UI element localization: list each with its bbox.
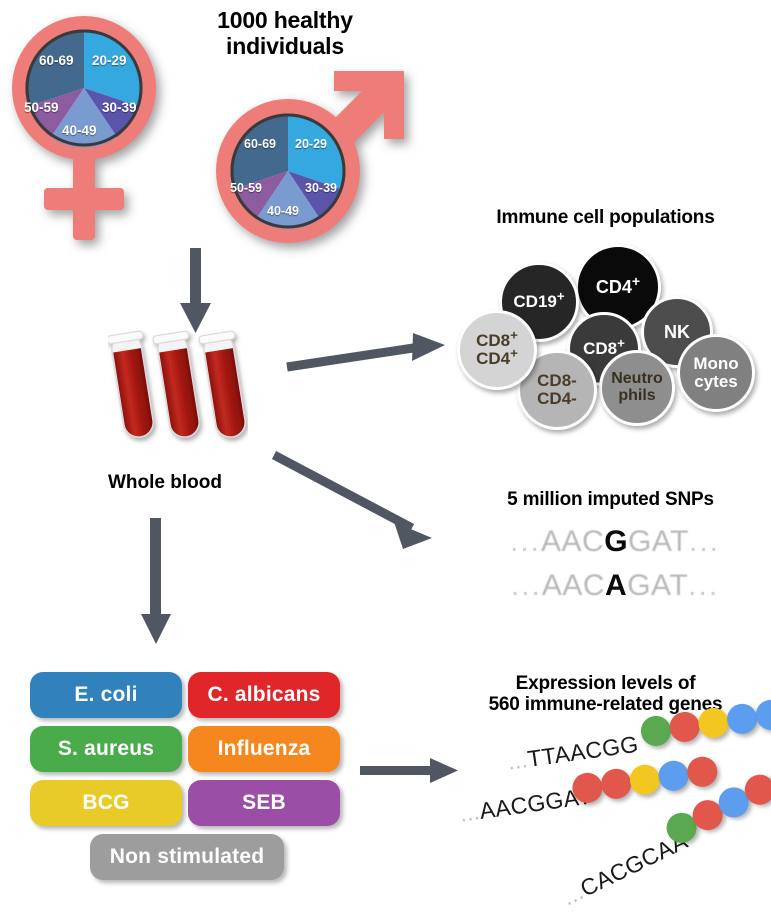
stimulus-label: S. aureus bbox=[58, 737, 154, 761]
snp-prefix-dots: ... bbox=[510, 525, 541, 558]
male-gender-symbol: 20-29 30-39 40-49 50-59 60-69 bbox=[200, 65, 415, 255]
stimulus-label: C. albicans bbox=[207, 683, 320, 707]
superscript-sign: + bbox=[510, 345, 518, 360]
stimulus-pill-s-aureus[interactable]: S. aureus bbox=[30, 726, 182, 772]
superscript-sign: + bbox=[617, 336, 625, 351]
page-title-cohort: 1000 healthy individuals bbox=[170, 8, 400, 60]
stimulus-label: SEB bbox=[242, 791, 286, 815]
snp-left-bases: AAC bbox=[541, 525, 604, 558]
stimulus-pill-influenza[interactable]: Influenza bbox=[188, 726, 340, 772]
snp-suffix-dots: ... bbox=[689, 525, 720, 558]
snp-right-bases: GAT bbox=[628, 525, 689, 558]
immune-cell-neutro-phils: Neutrophils bbox=[599, 350, 675, 426]
strand-bases: TTAACGG bbox=[526, 731, 640, 772]
snp-sequence-row: ...AACAGAT... bbox=[470, 569, 760, 603]
arrow-blood-to-snps bbox=[272, 450, 452, 555]
snp-variant-base: A bbox=[605, 569, 627, 602]
stimulus-pill-non-stimulated[interactable]: Non stimulated bbox=[90, 834, 284, 880]
whole-blood-tubes bbox=[108, 328, 248, 463]
immune-cell-label: NK bbox=[664, 323, 690, 342]
snp-right-bases: GAT bbox=[627, 569, 688, 602]
immune-cell-cluster: CD4+CD19+CD8+NKMonocytesNeutrophilsCD8-C… bbox=[455, 240, 771, 415]
immune-cell-label: CD4+ bbox=[476, 350, 518, 368]
expression-bead bbox=[657, 759, 691, 793]
stimulus-pill-c-albicans[interactable]: C. albicans bbox=[188, 672, 340, 718]
stimulus-pill-e-coli[interactable]: E. coli bbox=[30, 672, 182, 718]
stimulus-pill-bcg[interactable]: BCG bbox=[30, 780, 182, 826]
expression-strands: ...TTAACGG...AACGGAT...CACGCAA bbox=[440, 735, 771, 915]
immune-cell-label: CD4- bbox=[537, 390, 577, 408]
snp-sequence-row: ...AACGGAT... bbox=[470, 525, 760, 559]
stimulus-label: BCG bbox=[82, 791, 129, 815]
superscript-sign: + bbox=[510, 328, 518, 343]
stimulus-pill-seb[interactable]: SEB bbox=[188, 780, 340, 826]
stimuli-panel: E. coliC. albicansS. aureusInfluenzaBCGS… bbox=[30, 672, 350, 902]
section-title-snps: 5 million imputed SNPs bbox=[450, 489, 771, 510]
immune-cell-mono-cytes: Monocytes bbox=[677, 334, 755, 412]
immune-cell-label: cytes bbox=[693, 373, 738, 391]
stimulus-label: Influenza bbox=[218, 737, 311, 761]
stimulus-label: E. coli bbox=[74, 683, 137, 707]
stimulus-label: Non stimulated bbox=[110, 845, 264, 869]
snp-sequence-block: ...AACGGAT... ...AACAGAT... bbox=[470, 525, 760, 615]
immune-cell-label: CD19+ bbox=[513, 293, 564, 311]
female-gender-symbol: 20-29 30-39 40-49 50-59 60-69 bbox=[6, 10, 191, 260]
arrow-down-blood-to-stimuli bbox=[138, 518, 174, 646]
arrow-down-cohort-to-blood bbox=[178, 248, 214, 334]
immune-cell-label: CD4+ bbox=[596, 278, 640, 297]
immune-cell-label: phils bbox=[611, 388, 663, 405]
snp-variant-base: G bbox=[604, 525, 628, 558]
expression-bead bbox=[628, 763, 662, 797]
snp-left-bases: AAC bbox=[542, 569, 605, 602]
expression-bead bbox=[685, 755, 719, 789]
figure-canvas: 1000 healthy individuals bbox=[0, 0, 771, 922]
superscript-sign: + bbox=[632, 273, 640, 289]
snp-prefix-dots: ... bbox=[511, 569, 542, 602]
expression-bead bbox=[639, 714, 673, 748]
label-whole-blood: Whole blood bbox=[60, 472, 270, 494]
snp-suffix-dots: ... bbox=[688, 569, 719, 602]
arrow-blood-to-immune bbox=[285, 330, 450, 380]
section-title-immune-cells: Immune cell populations bbox=[440, 207, 771, 228]
immune-cell-label: Neutro bbox=[611, 371, 663, 388]
expression-bead bbox=[599, 767, 633, 801]
superscript-sign: + bbox=[557, 289, 565, 304]
immune-cell-label: Mono bbox=[693, 355, 738, 373]
immune-cell-label: CD8- bbox=[537, 372, 577, 390]
immune-cell-cd8-cd4: CD8+CD4+ bbox=[457, 310, 537, 390]
